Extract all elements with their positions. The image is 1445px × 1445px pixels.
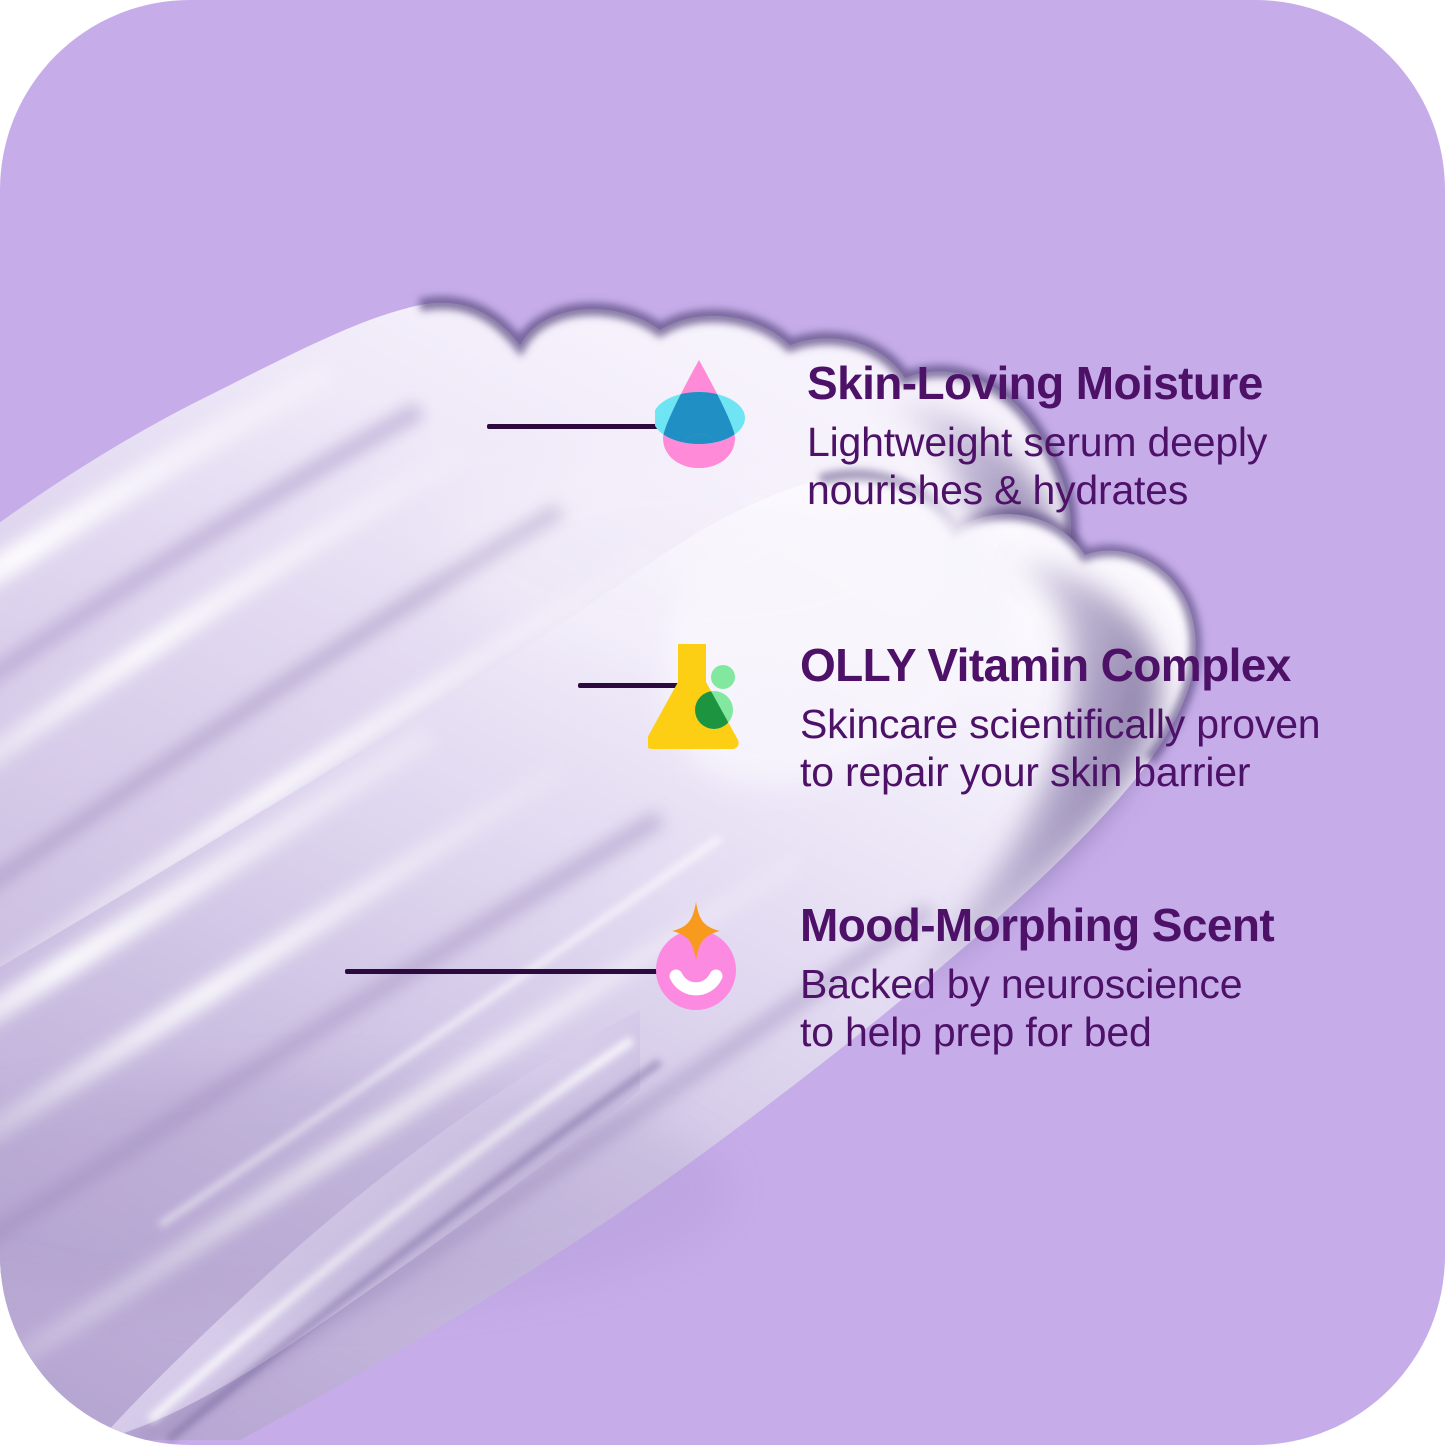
feature-text-block: OLLY Vitamin Complex Skincare scientific… (800, 640, 1320, 797)
feature-mood-morphing-scent: Mood-Morphing Scent Backed by neuroscien… (648, 900, 1274, 1057)
feature-description: Backed by neuroscience to help prep for … (800, 960, 1274, 1057)
leader-line-scent (345, 969, 667, 974)
product-benefits-card: Skin-Loving Moisture Lightweight serum d… (0, 0, 1445, 1445)
feature-title: Skin-Loving Moisture (807, 360, 1267, 406)
smiling-sparkle-icon (648, 900, 744, 1012)
feature-text-block: Mood-Morphing Scent Backed by neuroscien… (800, 900, 1274, 1057)
leader-line-moisture (487, 424, 679, 429)
feature-description: Skincare scientifically proven to repair… (800, 700, 1320, 797)
water-droplet-icon (655, 358, 751, 470)
feature-title: OLLY Vitamin Complex (800, 642, 1320, 688)
feature-olly-vitamin-complex: OLLY Vitamin Complex Skincare scientific… (648, 640, 1320, 797)
feature-description: Lightweight serum deeply nourishes & hyd… (807, 418, 1267, 515)
science-flask-icon (648, 640, 744, 752)
feature-title: Mood-Morphing Scent (800, 902, 1274, 948)
feature-skin-loving-moisture: Skin-Loving Moisture Lightweight serum d… (655, 358, 1267, 515)
feature-text-block: Skin-Loving Moisture Lightweight serum d… (807, 358, 1267, 515)
